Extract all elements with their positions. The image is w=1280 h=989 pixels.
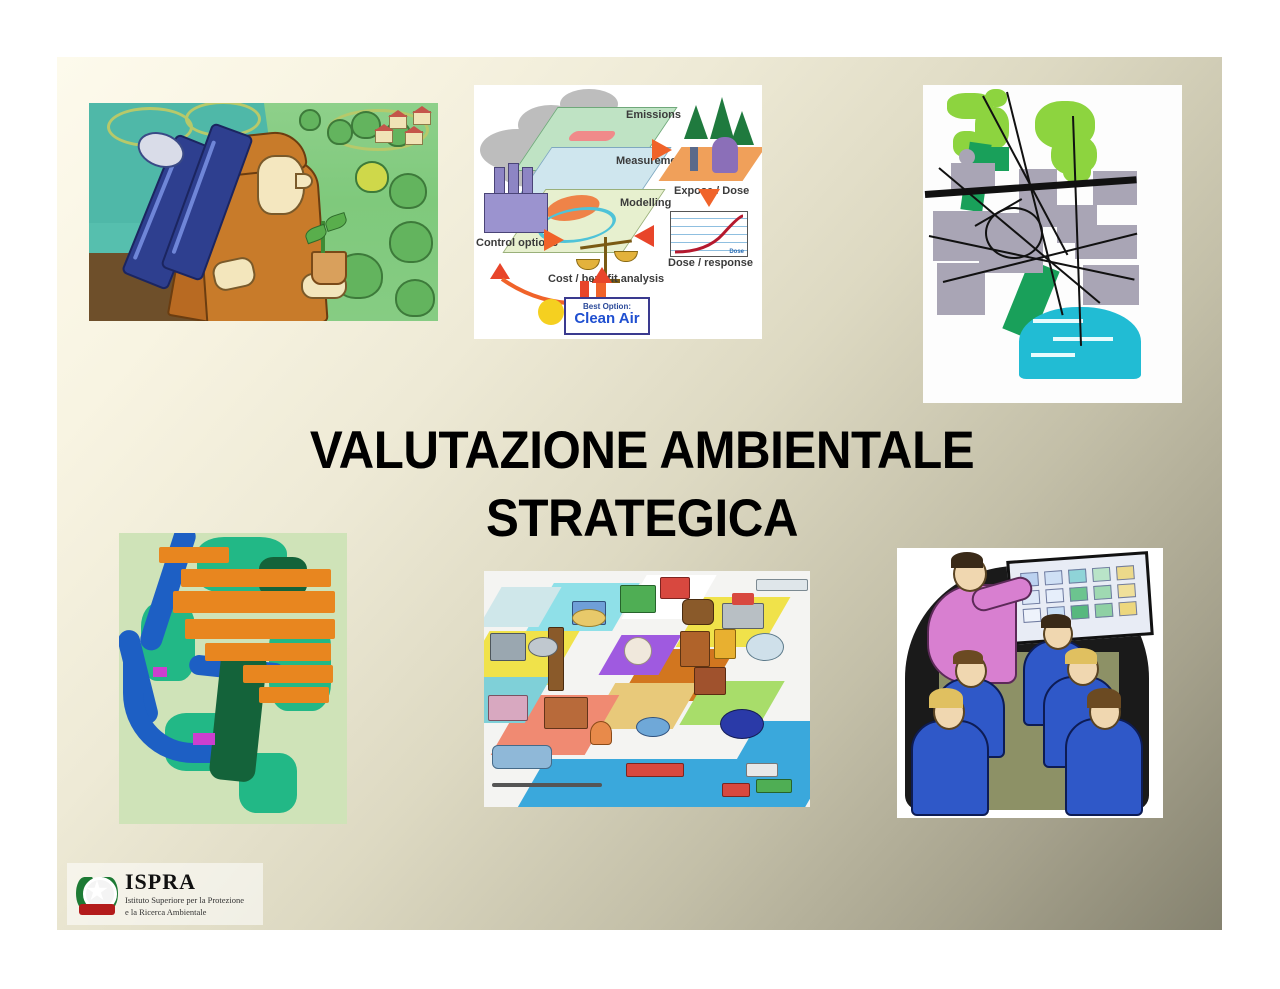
urban-fabric [205,643,331,661]
building-roof [732,593,754,605]
stadium [746,633,784,661]
label-modelling: Modelling [620,197,671,209]
attendee [911,720,989,816]
tower-building [680,631,710,667]
arrow-to-balance [544,229,564,251]
best-option-value: Clean Air [566,311,648,327]
results-board [1006,551,1154,645]
building [620,585,656,613]
exposed-ground [659,147,762,181]
factory-building [484,193,548,233]
aircraft [756,579,808,591]
aircraft [492,745,552,769]
urban-fabric [185,619,335,639]
ispra-tagline-line-1: Istituto Superiore per la Protezione [125,895,244,905]
title-line-1: VALUTAZIONE AMBIENTALE [237,417,1046,485]
village-house [413,111,431,125]
arrow-to-balance-right [634,225,654,247]
dose-axis-label: Dose [729,249,744,255]
urban-fabric [243,665,333,683]
best-option-box: Best Option: Clean Air [564,297,650,335]
balance-pan [614,251,638,262]
dose-response-chart: Dose [670,211,748,257]
italian-republic-emblem-icon [75,872,119,916]
ispra-logo-text: ISPRA Istituto Superiore per la Protezio… [125,871,244,917]
isometric-town-model [484,571,810,807]
arrow-model-to-expose [652,139,672,161]
red-ribbon [79,904,115,915]
orchard-tree [389,221,433,263]
building [722,603,764,629]
title-line-2: STRATEGICA [237,485,1046,553]
silo [590,721,612,745]
roundabout [572,609,606,627]
attendee-hair [1065,648,1097,664]
attendee-hair [929,688,963,708]
truck [746,763,778,777]
built-up-block [959,149,975,165]
water-detail [1031,353,1075,357]
tree [389,173,427,209]
sun-icon [538,299,564,325]
highlight-patch [153,667,167,677]
emission-hotspot [567,131,618,141]
village-house [405,131,423,145]
tree [327,119,353,145]
page-title: VALUTAZIONE AMBIENTALE STRATEGICA [207,417,1077,553]
ispra-brand: ISPRA [125,871,244,893]
exposed-person [690,147,698,171]
building [714,629,736,659]
slide-canvas: Emissions Measurements Modelling Expose … [57,57,1222,930]
building [660,577,690,599]
arena [720,709,764,739]
label-emissions: Emissions [626,109,681,121]
tree [299,109,321,131]
bus [756,779,792,793]
railway [492,783,602,787]
ispra-logo: ISPRA Istituto Superiore per la Protezio… [67,863,263,925]
chimney [548,627,564,691]
urban-fabric [259,687,329,703]
environmental-planner-illustration [89,103,438,321]
attendee [1065,718,1143,816]
orchard-tree [395,279,435,317]
building [490,633,526,661]
presentation-slide: Emissions Measurements Modelling Expose … [0,0,1280,989]
label-dose-response: Dose / response [668,257,753,269]
aerial-land-cover-map [119,533,347,824]
dome-building [528,637,558,657]
highlight-patch [193,733,215,745]
conifer-tree [684,105,708,139]
water-detail [1053,337,1113,341]
attendee-hair [953,650,983,664]
water-detail [1033,319,1083,323]
seedling-leaf [323,212,348,232]
flower-pot [311,251,347,285]
car [722,783,750,797]
attendee-hair [1041,614,1071,628]
building [544,697,588,729]
building [682,599,714,625]
urban-land-use-map [923,85,1182,403]
nose [295,173,313,189]
stakeholder-meeting-illustration [897,548,1163,818]
building [488,695,528,721]
village-house [375,129,393,143]
air-quality-assessment-cycle-diagram: Emissions Measurements Modelling Expose … [474,85,762,339]
factory-stack [508,163,519,197]
arrow-expose-to-chart [698,189,720,207]
urban-fabric [181,569,331,587]
urban-fabric [173,591,335,613]
attendee-hair [1087,688,1121,708]
exposed-person [712,137,738,173]
presenter-hair [951,552,983,568]
building [636,717,670,737]
ring-road [985,207,1043,259]
tree [355,161,389,193]
ispra-tagline-line-2: e la Ricerca Ambientale [125,907,244,917]
building [694,667,726,695]
bus [626,763,684,777]
sphere-monument [624,637,652,665]
built-up-block [937,263,985,315]
